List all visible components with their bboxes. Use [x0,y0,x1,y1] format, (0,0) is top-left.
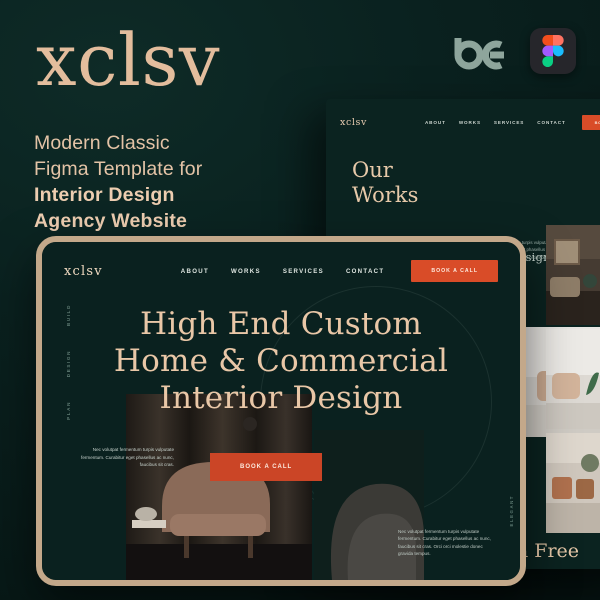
interior-photo-icon [546,329,600,429]
works-navbar: xclsv ABOUT WORKS SERVICES CONTACT BOOK … [326,108,600,136]
side-thumbnail[interactable] [546,433,600,533]
side-thumbnail[interactable] [546,329,600,429]
works-title-line-1: Our [352,158,600,183]
works-nav-about[interactable]: ABOUT [425,120,446,125]
headline-line-3: Interior Design [42,380,520,417]
hero-page-mockup: xclsv ABOUT WORKS SERVICES CONTACT BOOK … [36,236,526,586]
works-side-thumbnails [546,225,600,537]
works-book-a-call-button[interactable]: BOOK A CALL [582,115,600,130]
hero-nav-services[interactable]: SERVICES [283,268,324,275]
sofa-photo-icon [126,394,312,580]
hero-logo[interactable]: xclsv [64,264,103,279]
hero-left-paragraph: Nec volutpat fermentum turpis vulputate … [78,446,174,469]
hero-sofa-photo [126,394,312,580]
promo-line-3: Interior Design [34,182,364,208]
works-page-title: Our Works [352,158,600,208]
hero-nav-about[interactable]: ABOUT [181,268,209,275]
hero-headline: High End Custom Home & Commercial Interi… [42,306,520,417]
promo-line-2: Figma Template for [34,156,364,182]
promo-line-1: Modern Classic [34,130,364,156]
interior-photo-icon [546,433,600,533]
brand-wordmark: xclsv [36,24,364,96]
figma-logo-icon [542,35,564,67]
hero-nav-works[interactable]: WORKS [231,268,261,275]
works-nav-services[interactable]: SERVICES [494,120,524,125]
interior-photo-icon [546,225,600,325]
hero-inner: xclsv ABOUT WORKS SERVICES CONTACT BOOK … [42,242,520,580]
works-nav-works[interactable]: WORKS [459,120,481,125]
hero-vertical-tag: ELEGANT [509,495,514,526]
works-nav-links: ABOUT WORKS SERVICES CONTACT [425,120,566,125]
promo-poster: xclsv ABOUT WORKS SERVICES CONTACT BOOK … [0,0,600,600]
headline-line-2: Home & Commercial [42,343,520,380]
hero-navbar: xclsv ABOUT WORKS SERVICES CONTACT BOOK … [42,254,520,288]
promo-text-block: xclsv Modern Classic Figma Template for … [34,24,364,234]
badge-icon-row [452,28,576,74]
works-title-line-2: Works [352,183,600,208]
side-thumbnail[interactable] [546,225,600,325]
hero-cta-button[interactable]: BOOK A CALL [210,453,322,481]
headline-line-1: High End Custom [42,306,520,343]
hero-right-paragraph: Nec volutpat fermentum turpis vulputate … [398,528,498,558]
bc-monogram-icon [452,30,508,72]
hero-nav-links: ABOUT WORKS SERVICES CONTACT [181,268,385,275]
figma-logo-tile[interactable] [530,28,576,74]
hero-book-a-call-button[interactable]: BOOK A CALL [411,260,498,282]
works-nav-contact[interactable]: CONTACT [537,120,565,125]
promo-line-4: Agency Website [34,208,364,234]
hero-nav-contact[interactable]: CONTACT [346,268,384,275]
